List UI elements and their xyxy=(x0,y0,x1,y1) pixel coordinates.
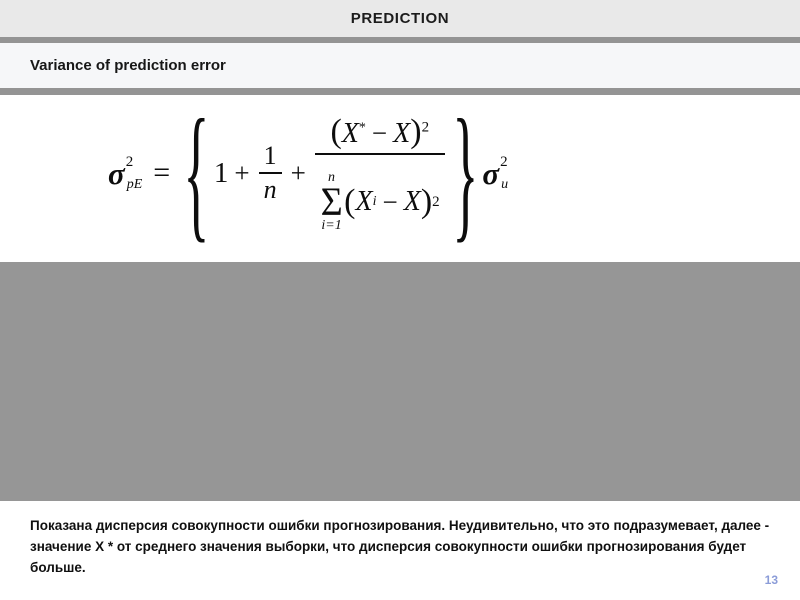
content-placeholder-block xyxy=(0,262,800,501)
fraction-one-over-n: 1 n xyxy=(259,141,282,205)
numerator-close-paren: ) xyxy=(410,113,421,150)
plus-first: + xyxy=(234,158,249,189)
lhs-sigma-symbol: σ xyxy=(108,158,125,189)
rhs-sigma-superscript: 2 xyxy=(500,155,508,170)
denominator-minus: − xyxy=(383,187,398,218)
header-divider-bottom xyxy=(0,88,800,95)
denominator-row: n Σ i=1 (Xi−X)2 xyxy=(320,171,440,233)
numerator-variable: X xyxy=(342,118,359,149)
summation-sigma-glyph: Σ xyxy=(320,183,342,221)
lhs-sigma-scripts: 2 рЕ xyxy=(126,155,143,192)
summation-operator: n Σ i=1 xyxy=(320,171,343,233)
lhs-sigma-subscript: рЕ xyxy=(127,178,143,192)
lhs-sigma-superscript: 2 xyxy=(126,155,143,170)
main-fraction-denominator: n Σ i=1 (Xi−X)2 xyxy=(315,157,445,233)
numerator-exponent: 2 xyxy=(422,120,430,136)
slide-banner: PREDICTION xyxy=(0,0,800,37)
numerator-star: * xyxy=(359,121,366,136)
numerator-open-paren: ( xyxy=(330,113,341,150)
numerator-mean: X xyxy=(393,118,410,149)
rhs-sigma-scripts: 2 и xyxy=(500,155,508,192)
denominator-exponent: 2 xyxy=(432,194,440,211)
main-fraction-bar xyxy=(315,153,445,155)
main-fraction: (X*−X)2 n Σ i=1 (Xi−X)2 xyxy=(315,113,445,233)
term-one: 1 xyxy=(214,157,229,190)
plus-second: + xyxy=(291,158,306,189)
slide: PREDICTION Variance of prediction error … xyxy=(0,0,800,600)
close-brace: } xyxy=(452,98,478,248)
page-title: Variance of prediction error xyxy=(30,57,226,74)
main-fraction-numerator: (X*−X)2 xyxy=(325,113,434,151)
denominator-index: i xyxy=(373,194,377,210)
denominator-open-paren: ( xyxy=(344,183,355,221)
open-brace: { xyxy=(184,98,210,248)
fraction-one-denominator: n xyxy=(259,175,282,205)
rhs-sigma-subscript: и xyxy=(501,178,508,192)
fraction-one-numerator: 1 xyxy=(259,141,282,171)
caption-text: Показана дисперсия совокупности ошибки п… xyxy=(30,516,772,579)
denominator-close-paren: ) xyxy=(421,183,432,221)
denominator-mean: X xyxy=(404,186,421,218)
formula-area: σ 2 рЕ = { 1 + 1 n + (X*−X)2 xyxy=(0,95,800,262)
fraction-one-bar xyxy=(259,172,282,174)
page-number: 13 xyxy=(765,573,778,587)
rhs-sigma-symbol: σ xyxy=(482,158,499,189)
denominator-variable: X xyxy=(356,186,373,218)
banner-title: PREDICTION xyxy=(351,10,450,27)
numerator-minus: − xyxy=(372,118,387,148)
caption-area: Показана дисперсия совокупности ошибки п… xyxy=(0,501,800,600)
slide-subheader: Variance of prediction error xyxy=(0,43,800,88)
prediction-variance-formula: σ 2 рЕ = { 1 + 1 n + (X*−X)2 xyxy=(108,113,508,233)
equals-sign: = xyxy=(153,156,170,190)
